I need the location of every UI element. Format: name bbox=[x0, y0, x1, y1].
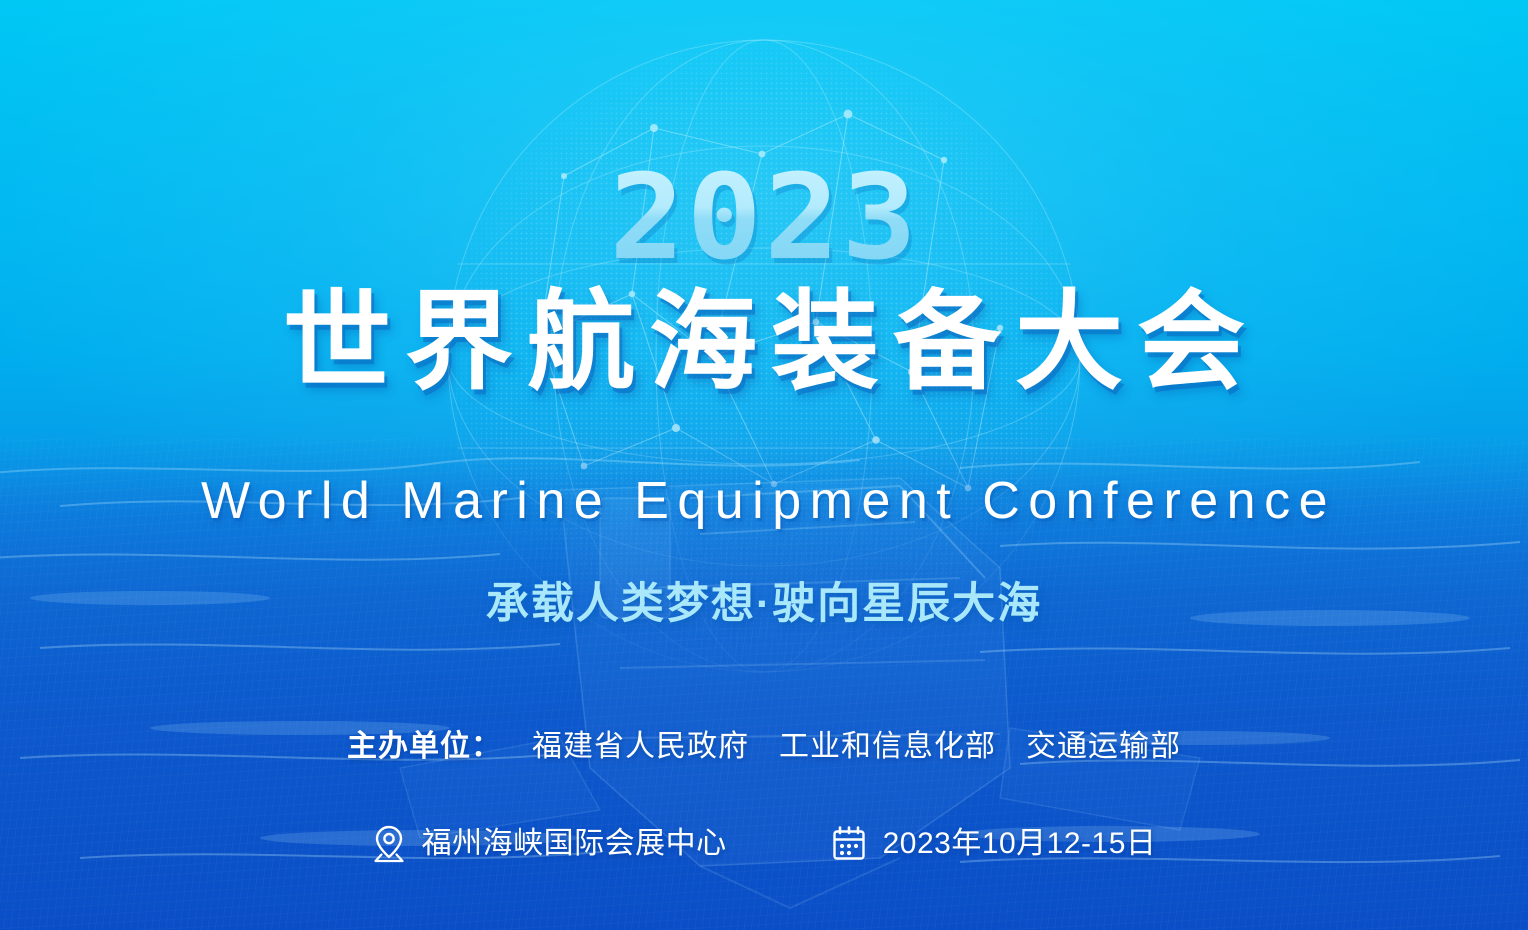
organizer-1: 福建省人民政府 bbox=[532, 730, 749, 763]
conference-tagline: 承载人类梦想·驶向星辰大海 bbox=[486, 583, 1042, 626]
poster-content: 2023 世界航海装备大会 World Marine Equipment Con… bbox=[0, 0, 1528, 930]
organizer-2: 工业和信息化部 bbox=[779, 730, 996, 763]
conference-poster: 2023 世界航海装备大会 World Marine Equipment Con… bbox=[0, 0, 1528, 930]
calendar-icon bbox=[831, 825, 867, 863]
organizer-3: 交通运输部 bbox=[1026, 730, 1181, 763]
year-headline: 2023 bbox=[609, 158, 919, 276]
venue-info: 福州海峡国际会展中心 bbox=[372, 824, 727, 864]
venue-text: 福州海峡国际会展中心 bbox=[422, 829, 727, 859]
date-info: 2023年10月12-15日 bbox=[831, 825, 1157, 863]
conference-title-english: World Marine Equipment Conference bbox=[192, 473, 1336, 530]
date-text: 2023年10月12-15日 bbox=[883, 829, 1157, 859]
location-pin-icon bbox=[372, 824, 406, 864]
conference-title-chinese: 世界航海装备大会 bbox=[269, 282, 1259, 403]
organizers-line: 主办单位：福建省人民政府工业和信息化部交通运输部 bbox=[347, 732, 1181, 762]
poster-footer: 福州海峡国际会展中心 2023年10月12-15日 bbox=[372, 824, 1157, 864]
organizers-label: 主办单位： bbox=[347, 730, 502, 763]
